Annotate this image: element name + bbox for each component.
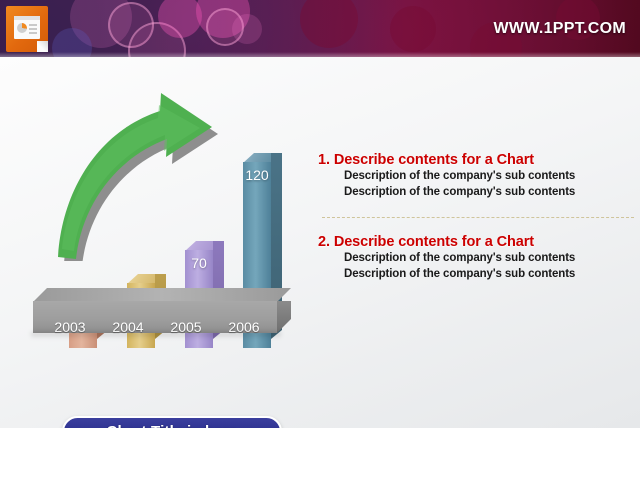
dashed-divider — [322, 217, 634, 218]
page-footer: 第一PPT HTTP://WWW.1PPT.COM — [0, 428, 640, 480]
platform-drop-shadow — [31, 332, 281, 339]
description-title-1: 1. Describe contents for a Chart — [318, 152, 638, 168]
bar-value-label: 70 — [185, 255, 213, 271]
logo-text-line — [29, 24, 37, 26]
logo-slide-card — [14, 16, 40, 39]
logo-pie-chart-icon — [17, 23, 27, 33]
bokeh-circle — [232, 14, 262, 44]
description-line: Description of the company's sub content… — [344, 184, 638, 200]
platform-front-face: 2003 2004 2005 2006 — [33, 301, 277, 333]
description-block-1: 1. Describe contents for a Chart Descrip… — [318, 152, 638, 200]
logo-page-fold — [37, 41, 48, 52]
chart-platform: 2003 2004 2005 2006 — [33, 288, 291, 348]
green-growth-arrow-icon — [40, 81, 270, 261]
bokeh-circle — [300, 0, 358, 48]
logo-text-line — [29, 32, 37, 34]
site-url-label: WWW.1PPT.COM — [494, 20, 626, 38]
page-header: WWW.1PPT.COM — [0, 0, 640, 57]
powerpoint-file-icon — [6, 6, 48, 52]
platform-side-face — [277, 301, 291, 333]
description-panel: 1. Describe contents for a Chart Descrip… — [318, 152, 638, 382]
logo-card-titlebar — [14, 16, 40, 20]
bar-value-label: 120 — [243, 167, 271, 183]
description-block-2: 2. Describe contents for a Chart Descrip… — [318, 234, 638, 282]
platform-top-face — [33, 288, 291, 302]
bokeh-circle — [390, 6, 436, 52]
logo-text-line — [29, 28, 37, 30]
description-line: Description of the company's sub content… — [344, 168, 638, 184]
slide-body: 30 50 70 120 2003 2004 — [0, 57, 640, 428]
description-line: Description of the company's sub content… — [344, 266, 638, 282]
description-title-2: 2. Describe contents for a Chart — [318, 234, 638, 250]
bar-chart: 30 50 70 120 2003 2004 — [0, 57, 320, 428]
description-line: Description of the company's sub content… — [344, 250, 638, 266]
